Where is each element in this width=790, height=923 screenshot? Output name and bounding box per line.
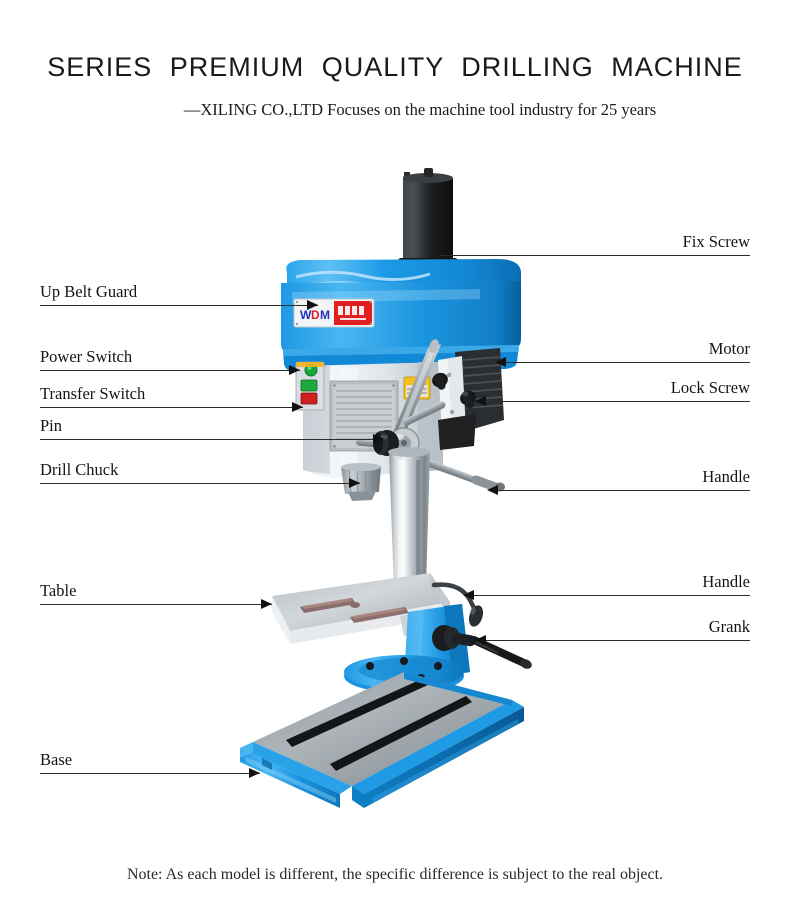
arrowhead-power-switch (289, 365, 300, 375)
arrowhead-handle-table (463, 590, 474, 600)
base (240, 672, 524, 808)
svg-text:M: M (320, 308, 331, 322)
arrowhead-up-belt-guard (307, 300, 318, 310)
brand-logo-plate: W D M (294, 299, 374, 327)
arrowhead-grank (475, 635, 486, 645)
leader-line-transfer-switch (40, 407, 303, 408)
svg-text:D: D (311, 308, 320, 322)
arrowhead-lock-screw (475, 396, 486, 406)
motor-assembly (385, 168, 466, 275)
leader-line-table (40, 604, 272, 605)
leader-line-lock-screw (486, 401, 750, 402)
leader-line-pin (40, 439, 384, 440)
leader-line-grank (486, 640, 750, 641)
callout-label-table: Table (40, 583, 76, 600)
callout-label-motor: Motor (709, 341, 750, 358)
drill-chuck (341, 463, 381, 501)
leader-line-handle-feed (498, 490, 750, 491)
arrowhead-transfer-switch (292, 402, 303, 412)
callout-label-grank: Grank (709, 619, 750, 636)
callout-label-transfer-switch: Transfer Switch (40, 386, 145, 403)
leader-line-motor (506, 362, 750, 363)
arrowhead-handle-feed (487, 485, 498, 495)
callout-label-drill-chuck: Drill Chuck (40, 462, 118, 479)
arrowhead-motor (495, 357, 506, 367)
leader-line-drill-chuck (40, 483, 360, 484)
callout-label-fix-screw: Fix Screw (683, 234, 750, 251)
callout-label-pin: Pin (40, 418, 62, 435)
arrowhead-base (249, 768, 260, 778)
callout-label-handle-feed: Handle (702, 469, 750, 486)
callout-label-handle-table: Handle (702, 574, 750, 591)
callout-label-base: Base (40, 752, 72, 769)
motor-housing (430, 348, 504, 450)
callout-label-power-switch: Power Switch (40, 349, 132, 366)
arrowhead-drill-chuck (349, 478, 360, 488)
drilling-machine-illustration: W D M (0, 0, 790, 923)
leader-line-handle-table (474, 595, 750, 596)
leader-line-base (40, 773, 260, 774)
leader-line-up-belt-guard (40, 305, 318, 306)
leader-line-fix-screw (440, 255, 750, 256)
arrowhead-pin (373, 434, 384, 444)
callout-label-up-belt-guard: Up Belt Guard (40, 284, 137, 301)
arrowhead-table (261, 599, 272, 609)
leader-line-power-switch (40, 370, 300, 371)
footer-note: Note: As each model is different, the sp… (0, 866, 790, 884)
callout-label-lock-screw: Lock Screw (671, 380, 750, 397)
